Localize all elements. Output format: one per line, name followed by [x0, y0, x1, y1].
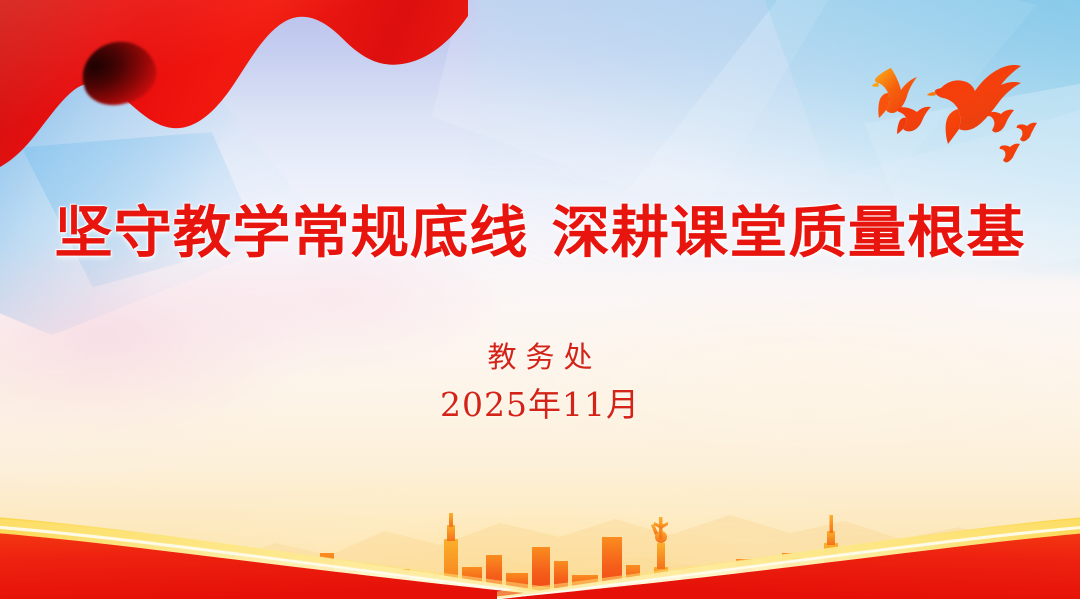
dove-icon-small-right-b	[1017, 123, 1037, 142]
dove-icon-small-left	[897, 107, 931, 134]
dove-icon-large	[927, 65, 1021, 144]
title-part-1: 坚守教学常规底线	[54, 201, 528, 266]
red-ribbon-left	[0, 479, 583, 599]
dove-icon-small-bottom	[1000, 144, 1020, 163]
red-flag-decoration	[0, 0, 468, 188]
title-part-2: 深耕课堂质量根基	[551, 201, 1025, 266]
dove-icon-small-right-a	[987, 110, 1014, 133]
presentation-slide: 坚守教学常规底线深耕课堂质量根基 教务处 2025年11月	[0, 0, 1080, 599]
bottom-scenery	[0, 429, 1080, 599]
slide-subtitle-department: 教务处	[0, 334, 1080, 376]
slide-title: 坚守教学常规底线深耕课堂质量根基	[0, 205, 1080, 264]
slide-date: 2025年11月	[0, 378, 1080, 426]
flying-doves-decoration	[855, 38, 1065, 168]
flag-highlight	[0, 0, 468, 188]
red-ribbon-right	[497, 479, 1080, 599]
